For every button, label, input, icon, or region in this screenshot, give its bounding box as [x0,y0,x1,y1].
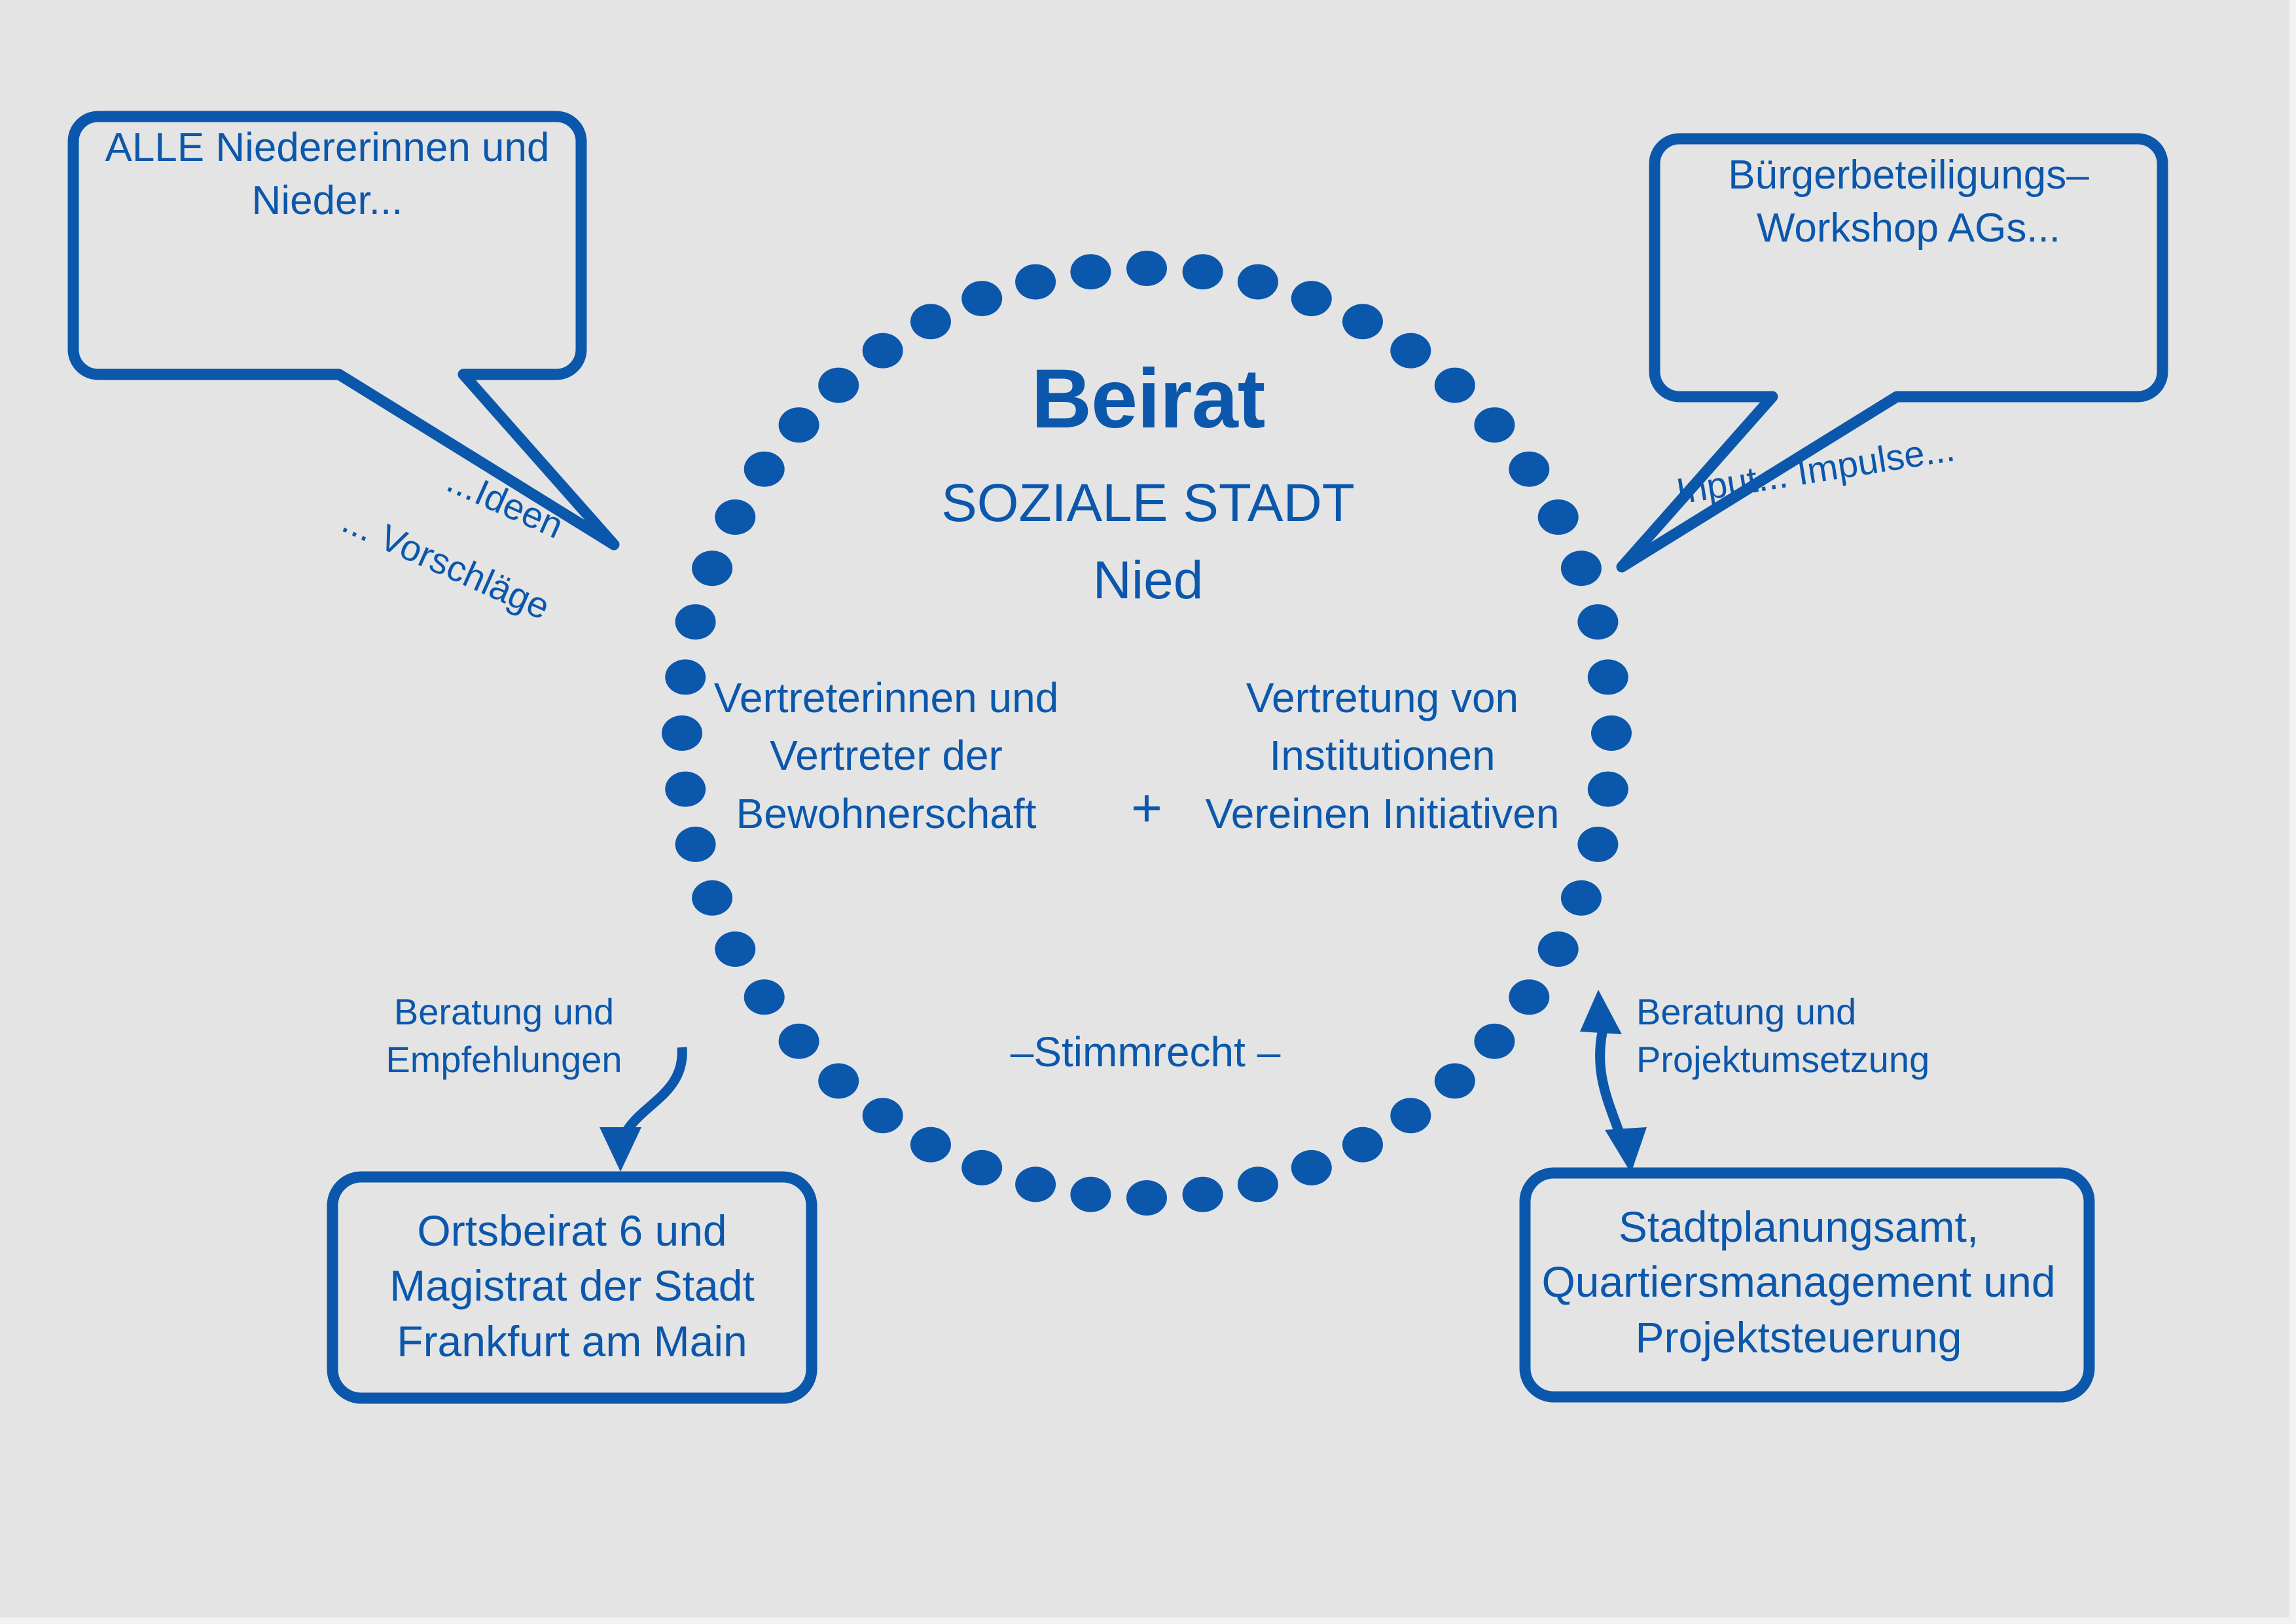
ring-dot [1238,1166,1278,1202]
ring-dot [1474,1024,1515,1059]
annotation-input-impulse: Input... Impulse... [1673,425,1958,515]
annotation-beratung-empfehlungen: Beratung und Empfehlungen [367,988,641,1084]
plus-symbol: + [1094,778,1199,839]
center-title: Beirat [788,351,1508,447]
ring-dot [1015,264,1056,300]
ring-dot [1183,254,1223,289]
ring-dot [1342,304,1383,339]
ring-dot [1577,827,1618,862]
ring-dot [910,304,951,339]
ring-dot [1509,452,1549,487]
ring-dot [1015,1166,1056,1202]
ring-dot [1509,979,1549,1015]
center-subtitle-line2: Nied [788,550,1508,611]
ring-dot [779,1024,819,1059]
ring-dot [1591,715,1632,751]
diagram-canvas: ALLE Niedererinnen und Nieder... Bürgerb… [0,0,2296,1624]
ring-dot [715,499,755,535]
ring-dot [744,452,785,487]
ring-dot [1342,1127,1383,1163]
center-right-column: Vertretung von Institutionen Vereinen In… [1199,669,1566,842]
ring-dot [1538,499,1579,535]
ring-dot [961,281,1002,316]
ring-dot [675,604,716,640]
ring-dot [1538,931,1579,967]
ring-dot [1291,281,1332,316]
ring-dot [1561,550,1602,586]
ring-dot [1238,264,1278,300]
ring-dot [1588,659,1628,695]
ring-dot [1183,1177,1223,1212]
box-ortsbeirat-label: Ortsbeirat 6 und Magistrat der Stadt Fra… [335,1203,809,1369]
box-stadtplanungsamt-label: Stadtplanungsamt, Quartiersmanagement un… [1529,1199,2068,1365]
ring-dot [715,931,755,967]
ring-dot [692,880,732,916]
ring-dot [1390,1098,1431,1133]
frame-edge-bottom [0,1617,2296,1624]
annotation-ideen-text: ...Ideen [441,459,569,547]
bubble-top-right-label: Bürgerbeteiligungs– Workshop AGs... [1673,149,2144,255]
center-left-column: Vertreterinnen und Vertreter der Bewohne… [683,669,1089,842]
frame-edge-right [2289,0,2296,1624]
ring-dot [1577,604,1618,640]
ring-dot [910,1127,951,1163]
ring-dot [1070,254,1111,289]
stimmrecht-label: –Stimmrecht – [818,1028,1473,1076]
ring-dot [692,550,732,586]
ring-dot [1126,251,1167,286]
ring-dot [961,1150,1002,1185]
center-subtitle-line1: SOZIALE STADT [788,473,1508,534]
annotation-ideen: ...Ideen [441,458,570,547]
ring-dot [744,979,785,1015]
ring-dot [1070,1177,1111,1212]
ring-dot [1291,1150,1332,1185]
bubble-top-left-label: ALLE Niedererinnen und Nieder... [92,122,563,227]
ring-dot [1588,772,1628,807]
annotation-beratung-projektumsetzung: Beratung und Projektumsetzung [1636,988,1977,1084]
ring-dot [863,1098,903,1133]
ring-dot [1126,1180,1167,1216]
ring-dot [1561,880,1602,916]
